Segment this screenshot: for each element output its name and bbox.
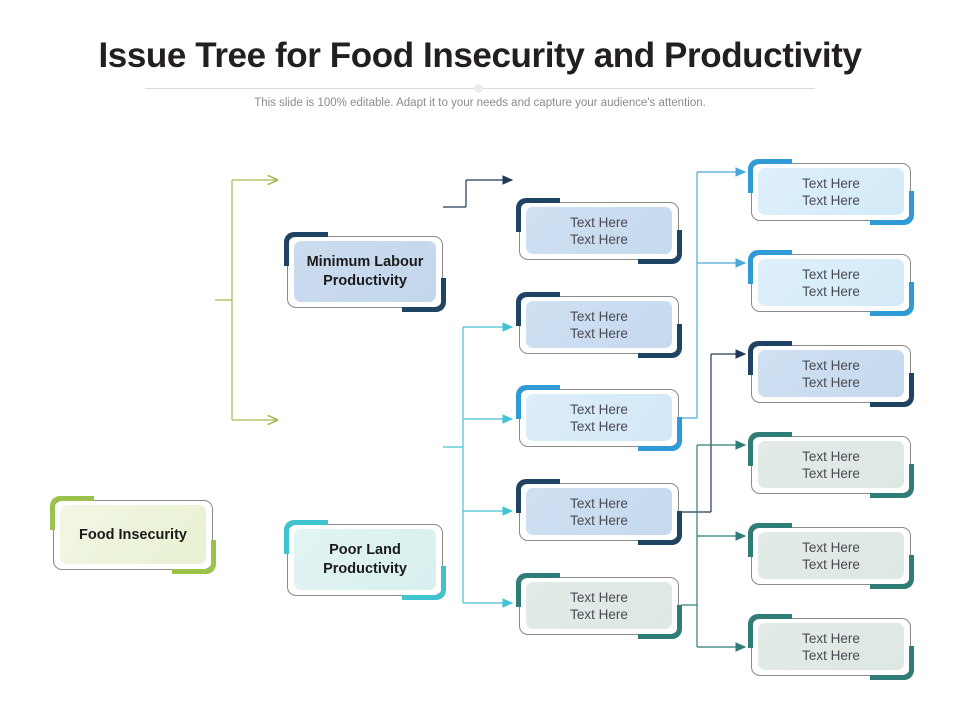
node-label: Food Insecurity [79, 526, 187, 545]
node-label: Text Here Text Here [570, 214, 628, 249]
node-label: Text Here Text Here [802, 539, 860, 574]
corner-bracket-bottom-right-icon [870, 282, 914, 316]
node-minimum-labour-productivity[interactable]: Minimum Labour Productivity [287, 236, 443, 308]
node-label: Poor Land Productivity [323, 541, 407, 578]
page-subtitle: This slide is 100% editable. Adapt it to… [0, 97, 960, 109]
corner-bracket-bottom-right-icon [638, 324, 682, 358]
issue-tree-diagram: Food Insecurity Minimum Labour Productiv… [0, 120, 960, 720]
corner-bracket-bottom-right-icon [402, 566, 446, 600]
corner-bracket-top-left-icon [516, 573, 560, 607]
node-right-5[interactable]: Text Here Text Here [751, 527, 911, 585]
node-poor-land-productivity[interactable]: Poor Land Productivity [287, 524, 443, 596]
corner-bracket-top-left-icon [284, 520, 328, 554]
node-label: Minimum Labour Productivity [307, 253, 424, 290]
corner-bracket-top-left-icon [748, 159, 792, 193]
node-label: Text Here Text Here [802, 266, 860, 301]
corner-bracket-top-left-icon [516, 198, 560, 232]
corner-bracket-top-left-icon [748, 341, 792, 375]
node-label: Text Here Text Here [570, 308, 628, 343]
corner-bracket-bottom-right-icon [638, 511, 682, 545]
corner-bracket-top-left-icon [516, 479, 560, 513]
node-right-4[interactable]: Text Here Text Here [751, 436, 911, 494]
corner-bracket-bottom-right-icon [172, 540, 216, 574]
node-middle-1[interactable]: Text Here Text Here [519, 202, 679, 260]
corner-bracket-bottom-right-icon [870, 373, 914, 407]
node-middle-5[interactable]: Text Here Text Here [519, 577, 679, 635]
corner-bracket-bottom-right-icon [638, 417, 682, 451]
divider-dot-icon [474, 84, 483, 93]
corner-bracket-top-left-icon [748, 614, 792, 648]
corner-bracket-top-left-icon [516, 385, 560, 419]
node-label: Text Here Text Here [570, 589, 628, 624]
node-middle-2[interactable]: Text Here Text Here [519, 296, 679, 354]
node-right-3[interactable]: Text Here Text Here [751, 345, 911, 403]
node-middle-3[interactable]: Text Here Text Here [519, 389, 679, 447]
corner-bracket-bottom-right-icon [870, 464, 914, 498]
node-label: Text Here Text Here [570, 495, 628, 530]
node-right-6[interactable]: Text Here Text Here [751, 618, 911, 676]
corner-bracket-top-left-icon [516, 292, 560, 326]
node-label: Text Here Text Here [802, 175, 860, 210]
corner-bracket-top-left-icon [748, 432, 792, 466]
slide-header: Issue Tree for Food Insecurity and Produ… [0, 0, 960, 120]
node-middle-4[interactable]: Text Here Text Here [519, 483, 679, 541]
corner-bracket-bottom-right-icon [638, 605, 682, 639]
node-label: Text Here Text Here [802, 630, 860, 665]
page-title: Issue Tree for Food Insecurity and Produ… [0, 36, 960, 76]
node-right-2[interactable]: Text Here Text Here [751, 254, 911, 312]
node-right-1[interactable]: Text Here Text Here [751, 163, 911, 221]
node-root-food-insecurity[interactable]: Food Insecurity [53, 500, 213, 570]
corner-bracket-bottom-right-icon [638, 230, 682, 264]
node-label: Text Here Text Here [802, 357, 860, 392]
node-label: Text Here Text Here [802, 448, 860, 483]
node-label: Text Here Text Here [570, 401, 628, 436]
corner-bracket-top-left-icon [748, 523, 792, 557]
corner-bracket-bottom-right-icon [870, 191, 914, 225]
corner-bracket-bottom-right-icon [870, 646, 914, 680]
corner-bracket-bottom-right-icon [870, 555, 914, 589]
corner-bracket-top-left-icon [748, 250, 792, 284]
